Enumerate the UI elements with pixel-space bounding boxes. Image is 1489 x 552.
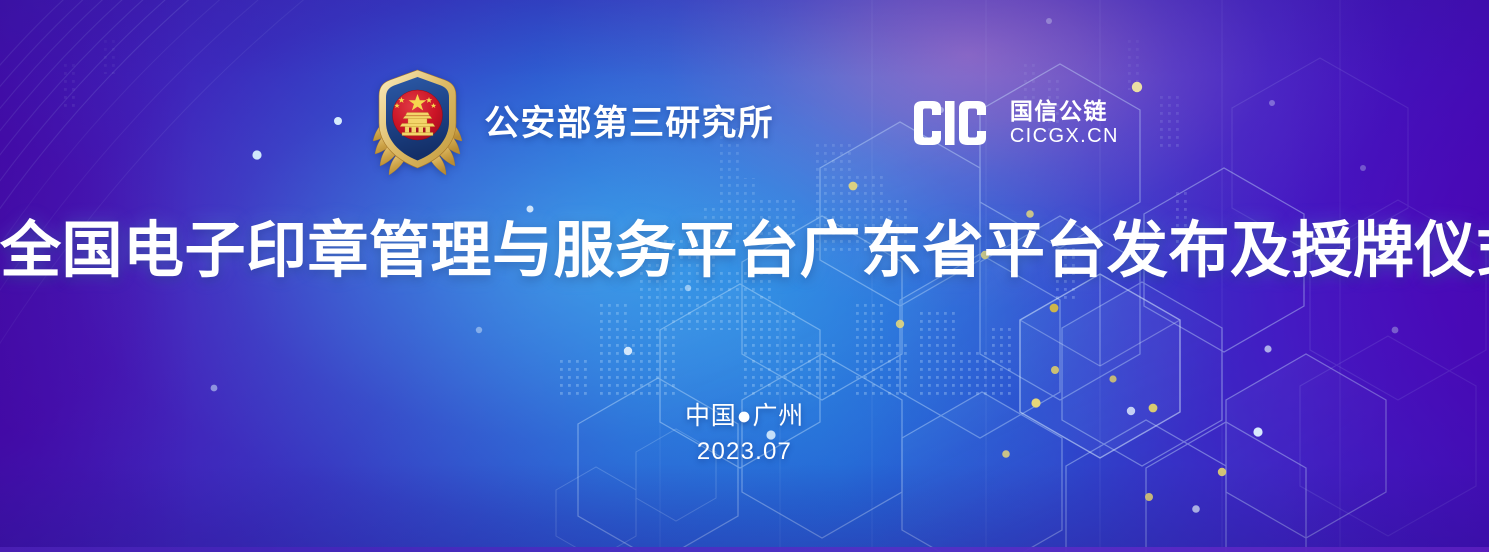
cic-lockup: 国信公链 CICGX.CN (914, 99, 1119, 147)
banner-footer: 中国●广州 2023.07 (0, 402, 1489, 467)
ministry-name: 公安部第三研究所 (484, 106, 774, 141)
event-location: 中国●广州 (0, 402, 1489, 432)
banner-title: 全国电子印章管理与服务平台广东省平台发布及授牌仪式 (0, 216, 1489, 284)
bottom-accent-strip (0, 547, 1489, 552)
cic-name-en: CICGX.CN (1010, 126, 1119, 147)
cic-text-block: 国信公链 CICGX.CN (1010, 99, 1119, 147)
cic-name-cn: 国信公链 (1010, 99, 1119, 123)
china-police-badge-icon (370, 68, 465, 178)
event-date: 2023.07 (0, 436, 1489, 467)
ministry-lockup: 公安部第三研究所 (370, 68, 774, 178)
logo-row: 公安部第三研究所 国信公链 CICGX.CN (0, 68, 1489, 178)
event-banner: 公安部第三研究所 国信公链 CICGX.CN 全国电子印章管理与服务平台广东省平… (0, 0, 1489, 552)
cic-wordmark-icon (914, 101, 997, 145)
